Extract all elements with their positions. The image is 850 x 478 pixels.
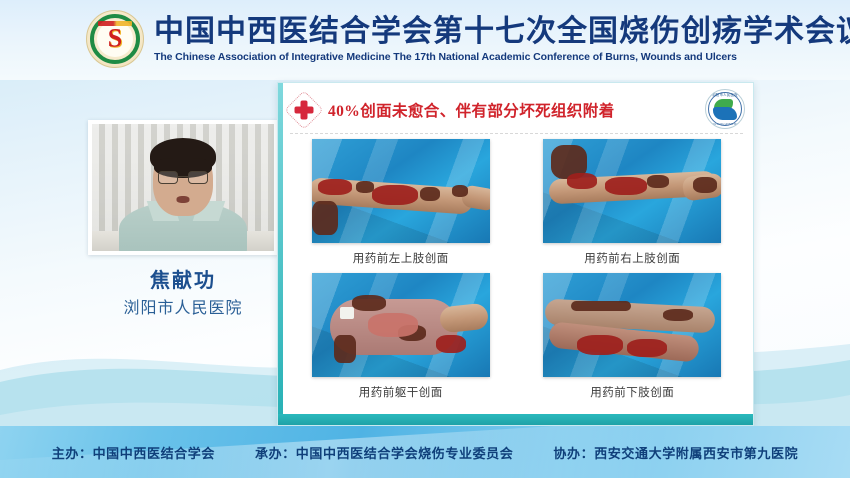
photo-caption: 用药前下肢创面 [590, 384, 674, 400]
photo-cell: 用药前左上肢创面 [292, 139, 510, 269]
footer-organizer: 承办：中国中西医结合学会烧伤专业委员会 [255, 443, 513, 462]
association-logo-icon: S [86, 10, 144, 68]
conference-title-block: 中国中西医结合学会第十七次全国烧伤创疡学术会议 The Chinese Asso… [154, 15, 850, 63]
photo-caption: 用药前左上肢创面 [353, 250, 449, 266]
footer-co-organizer: 协办：西安交通大学附属西安市第九医院 [553, 443, 798, 462]
speaker-organization: 浏阳市人民医院 [88, 294, 278, 318]
clinical-photo-lower-limb[interactable] [543, 273, 721, 377]
conference-title-chinese: 中国中西医结合学会第十七次全国烧伤创疡学术会议 [154, 15, 850, 49]
hospital-logo-bottom-text: LIUYANG HOSPITAL [706, 122, 744, 126]
slide-panel[interactable]: 40%创面未愈合、伴有部分坏死组织附着 浏阳市人民医院 LIUYANG HOSP… [277, 82, 754, 426]
speaker-glasses [158, 171, 208, 184]
speaker-hair [150, 138, 216, 174]
clinical-photo-right-upper-limb[interactable] [543, 139, 721, 243]
footer-bar: 主办：中国中西医结合学会 承办：中国中西医结合学会烧伤专业委员会 协办：西安交通… [0, 426, 850, 478]
footer-host: 主办：中国中西医结合学会 [52, 443, 215, 462]
photo-cell: 用药前下肢创面 [524, 273, 742, 403]
banner-content: S 中国中西医结合学会第十七次全国烧伤创疡学术会议 The Chinese As… [86, 10, 850, 68]
photo-cell: 用药前躯干创面 [292, 273, 510, 403]
photo-caption: 用药前躯干创面 [359, 384, 443, 400]
photo-caption: 用药前右上肢创面 [584, 250, 680, 266]
speaker-mouth [177, 196, 190, 203]
slide-accent-bottom [278, 414, 753, 425]
slide-header: 40%创面未愈合、伴有部分坏死组织附着 [290, 89, 743, 131]
slide-accent-left [278, 83, 283, 425]
hospital-logo-icon: 浏阳市人民医院 LIUYANG HOSPITAL [705, 89, 745, 129]
speaker-name: 焦献功 [88, 264, 278, 293]
speaker-video-feed[interactable] [92, 124, 274, 251]
clinical-photo-left-upper-limb[interactable] [312, 139, 490, 243]
clinical-photo-grid: 用药前左上肢创面 用药前右上肢创面 [292, 139, 741, 403]
association-logo-swirl: S [108, 25, 122, 51]
hospital-logo-top-text: 浏阳市人民医院 [706, 92, 744, 97]
speaker-video-frame[interactable] [88, 120, 278, 255]
footer-credits: 主办：中国中西医结合学会 承办：中国中西医结合学会烧伤专业委员会 协办：西安交通… [0, 426, 850, 478]
clinical-photo-trunk[interactable] [312, 273, 490, 377]
photo-cell: 用药前右上肢创面 [524, 139, 742, 269]
presentation-viewer: S 中国中西医结合学会第十七次全国烧伤创疡学术会议 The Chinese As… [0, 0, 850, 478]
slide-header-divider [290, 133, 743, 134]
conference-title-english: The Chinese Association of Integrative M… [154, 51, 850, 63]
conference-banner: S 中国中西医结合学会第十七次全国烧伤创疡学术会议 The Chinese As… [0, 0, 850, 80]
red-cross-icon [290, 96, 318, 124]
slide-title: 40%创面未愈合、伴有部分坏死组织附着 [328, 99, 615, 121]
